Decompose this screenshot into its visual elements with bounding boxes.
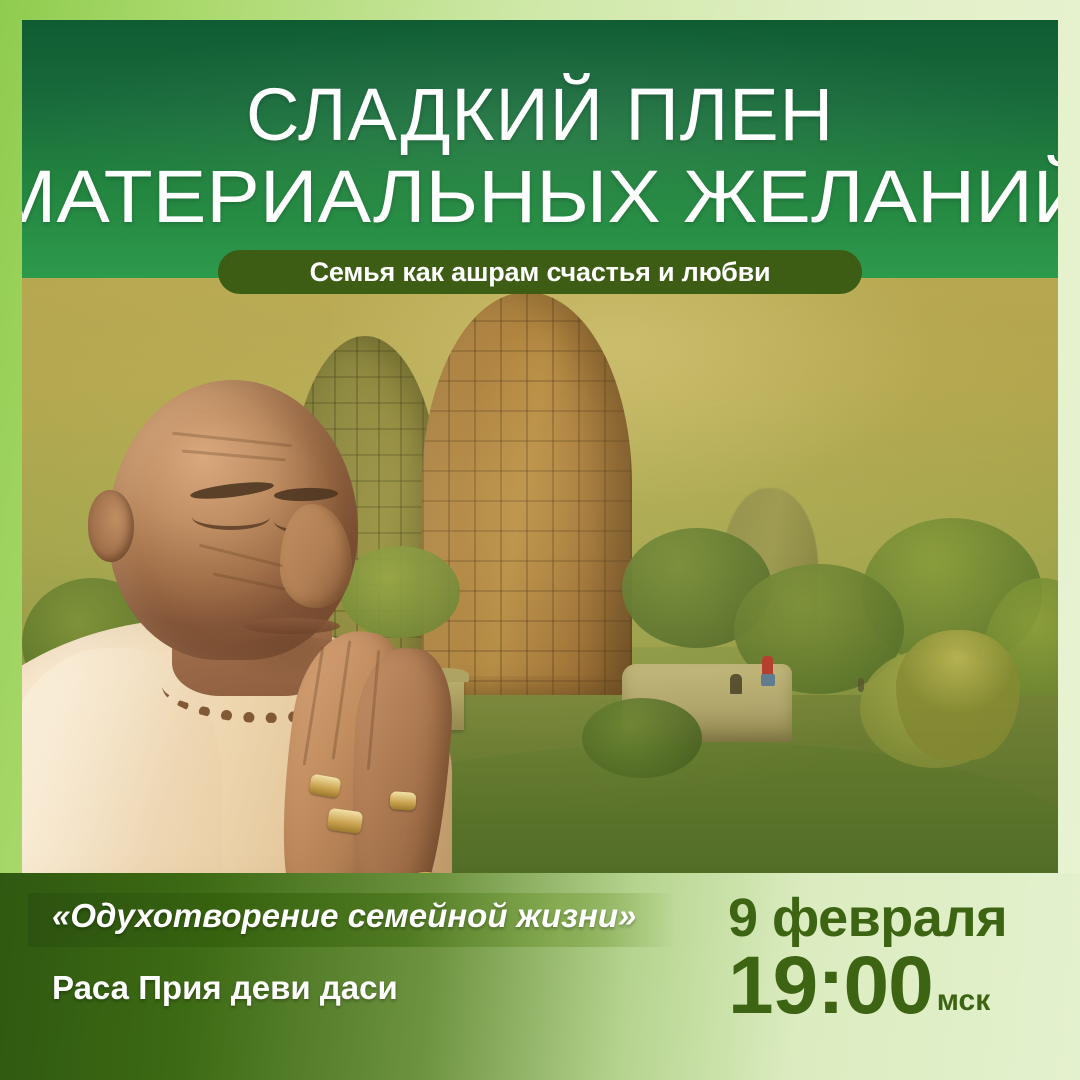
event-timezone: мск xyxy=(937,984,991,1018)
event-poster: СЛАДКИЙ ПЛЕН МАТЕРИАЛЬНЫХ ЖЕЛАНИЙ Семья … xyxy=(0,0,1080,1080)
closed-eye xyxy=(192,504,270,530)
monk-figure xyxy=(22,318,582,873)
poster-title-line-1: СЛАДКИЙ ПЛЕН xyxy=(22,78,1058,152)
praying-hands xyxy=(268,624,468,873)
event-time: 19:00 xyxy=(728,947,933,1026)
finger-ring xyxy=(389,791,416,811)
header-band: СЛАДКИЙ ПЛЕН МАТЕРИАЛЬНЫХ ЖЕЛАНИЙ xyxy=(22,20,1058,278)
lecture-title-quote: «Одухотворение семейной жизни» xyxy=(52,897,636,935)
finger-ring xyxy=(327,808,364,835)
poster-title-line-2: МАТЕРИАЛЬНЫХ ЖЕЛАНИЙ xyxy=(22,160,1058,234)
subtitle-text: Семья как ашрам счастья и любви xyxy=(310,257,771,288)
event-time-row: 19:00 мск xyxy=(728,947,990,1026)
ear xyxy=(88,490,134,562)
artwork-photo xyxy=(22,278,1058,873)
subtitle-pill: Семья как ашрам счастья и любви xyxy=(218,250,862,294)
footer-panel: «Одухотворение семейной жизни» Раса Прия… xyxy=(0,873,1080,1080)
speaker-name: Раса Прия деви даси xyxy=(52,969,398,1007)
